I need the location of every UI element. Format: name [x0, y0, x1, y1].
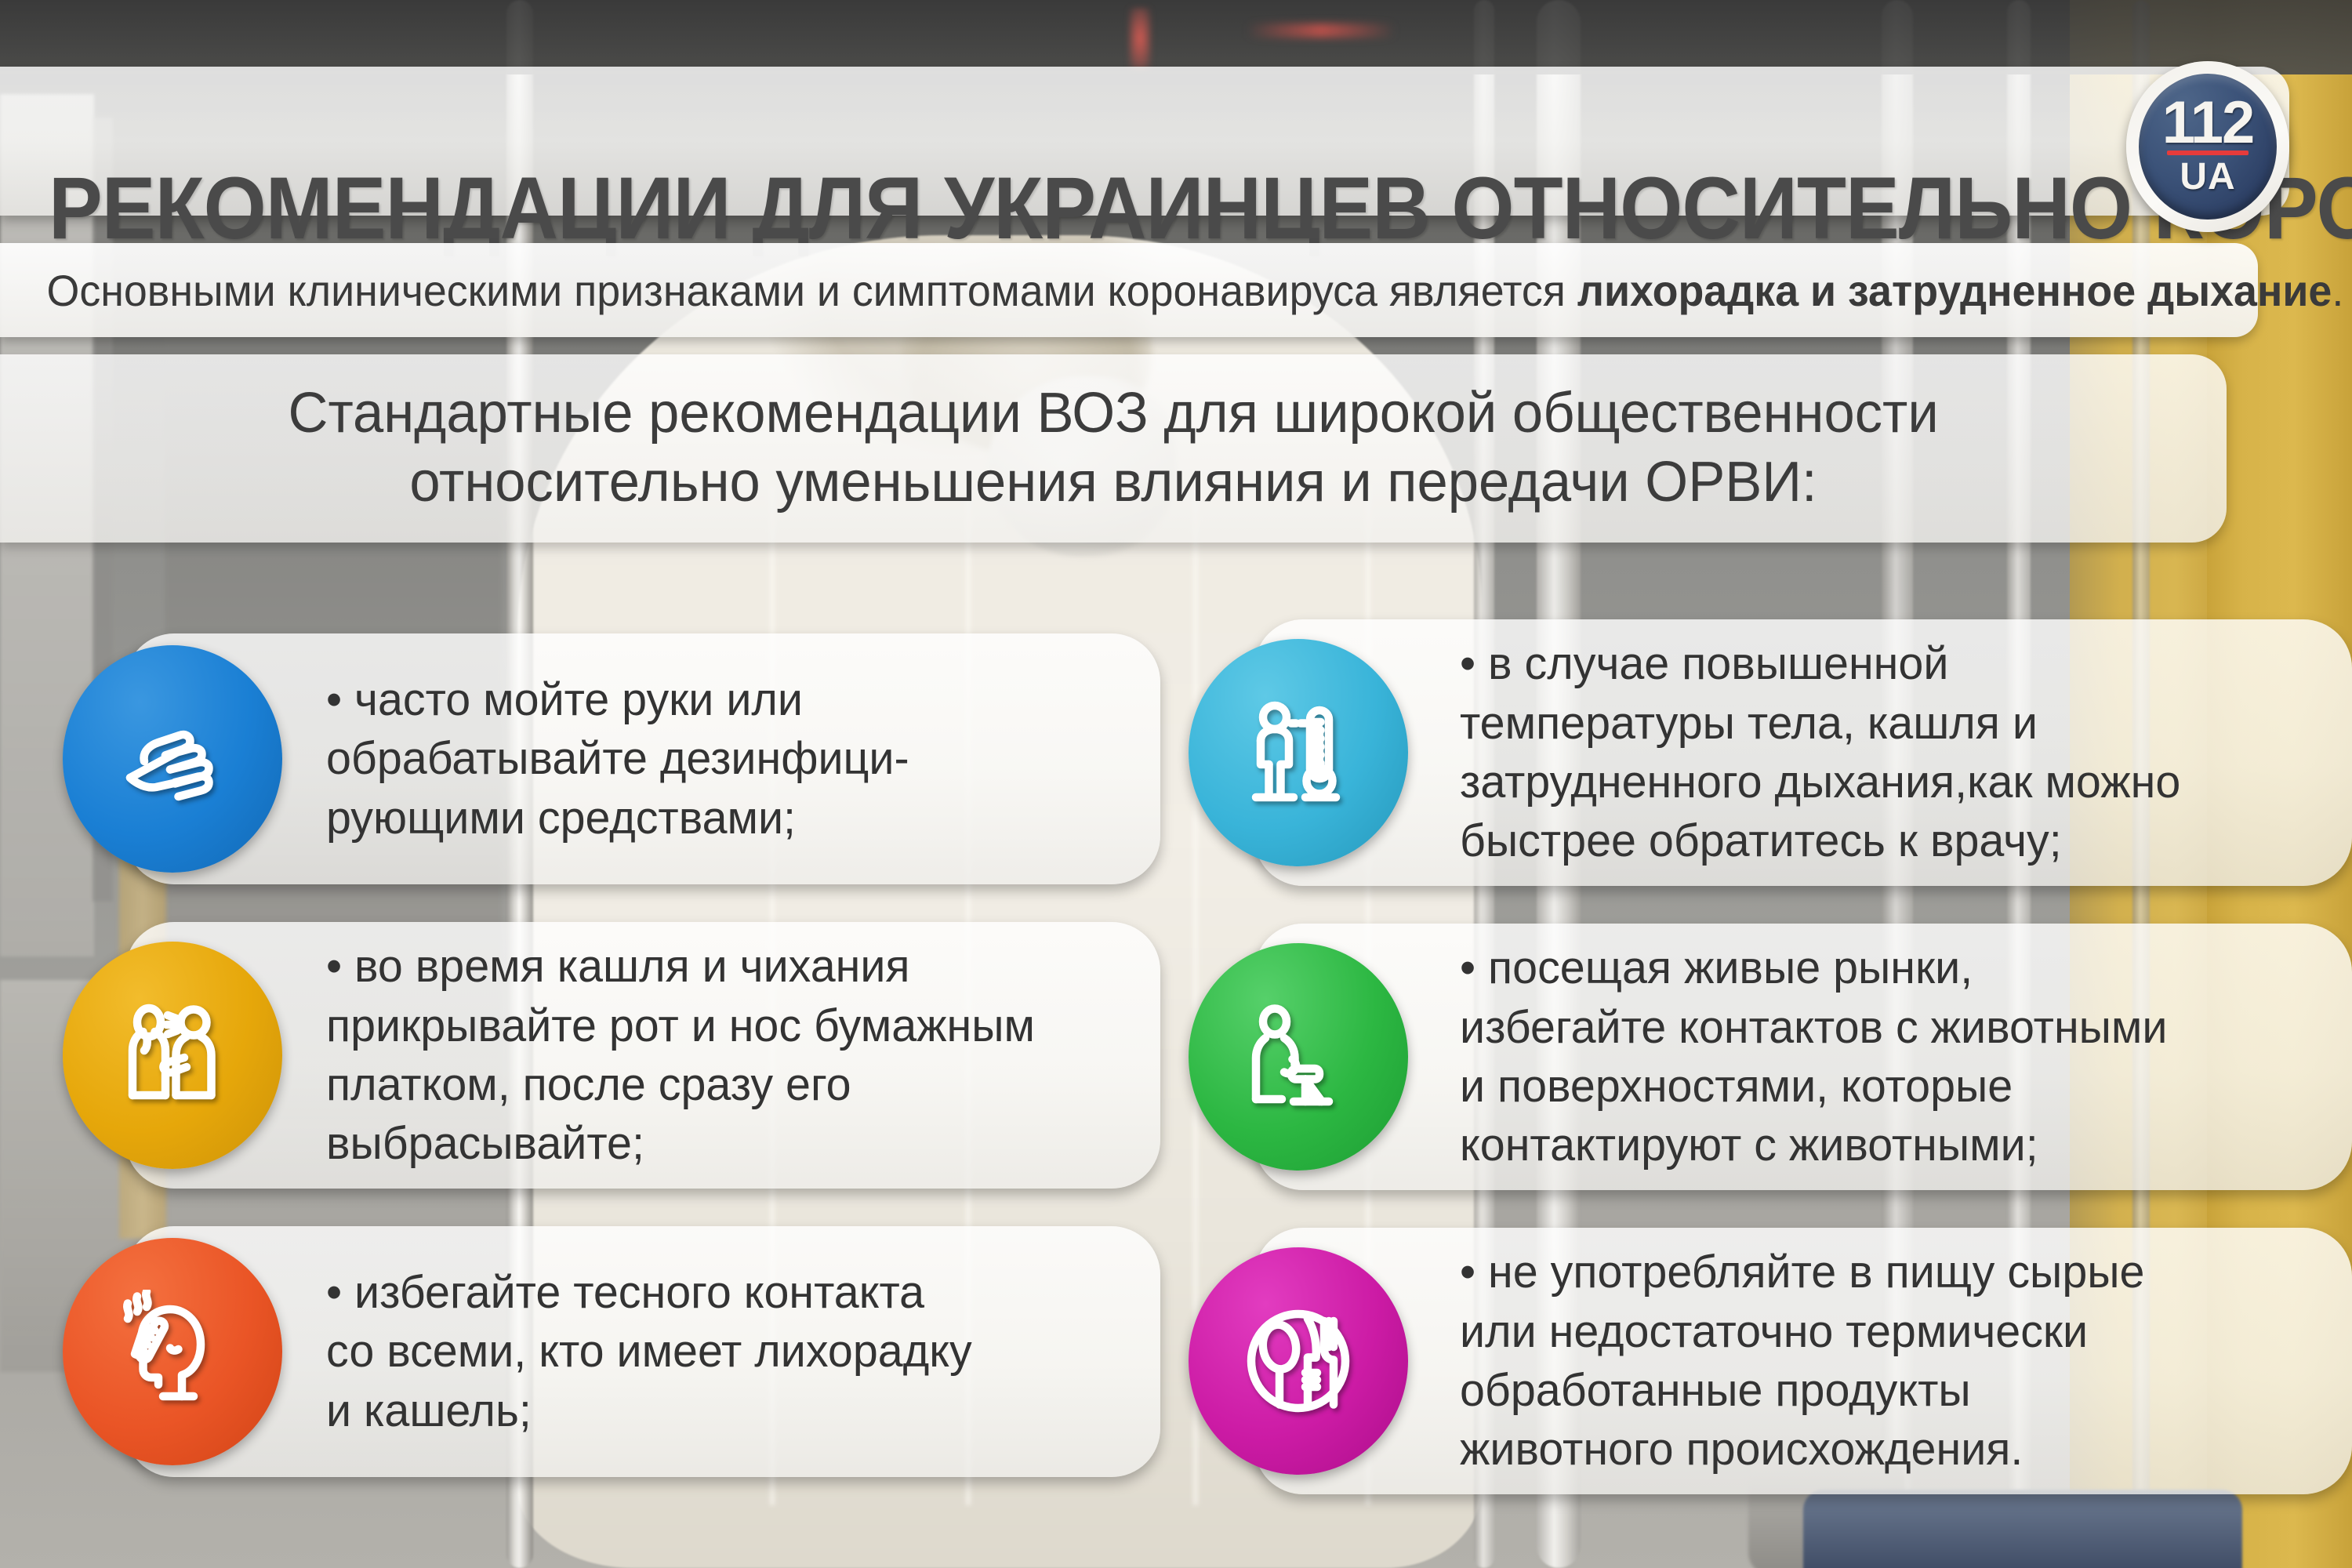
recommendation-card-see-doctor: • в случае повышенной температуры тела, …	[1254, 619, 2352, 886]
badge-wash-hands	[63, 645, 282, 873]
recommendations-column-left: • часто мойте руки или обрабатывайте дез…	[125, 633, 1160, 1515]
badge-raw-food	[1189, 1247, 1408, 1475]
recommendation-text: • не употребляйте в пищу сырые или недос…	[1460, 1243, 2144, 1479]
symptoms-tail: .	[2332, 266, 2343, 315]
red-display-strip	[1247, 24, 1396, 38]
red-indicator-light	[1129, 8, 1151, 69]
badge-live-markets	[1189, 943, 1408, 1171]
recommendation-card-avoid-contact: • избегайте тесного контакта со всеми, к…	[125, 1226, 1160, 1477]
recommendation-card-live-markets: • посещая живые рынки, избегайте контакт…	[1254, 924, 2352, 1190]
person-thermometer-icon	[1240, 691, 1357, 815]
who-intro-line-2: относительно уменьшения влияния и переда…	[409, 448, 1817, 517]
recommendation-text: • часто мойте руки или обрабатывайте дез…	[326, 670, 909, 848]
logo-red-rule	[2167, 151, 2249, 155]
logo-circle: 112 UA	[2139, 74, 2277, 220]
logo-country-code: UA	[2180, 158, 2235, 196]
recommendation-card-raw-food: • не употребляйте в пищу сырые или недос…	[1254, 1228, 2352, 1494]
badge-avoid-contact	[63, 1238, 282, 1465]
recommendation-text: • во время кашля и чихания прикрывайте р…	[326, 937, 1035, 1174]
channel-logo-112ua: 112 UA	[2126, 61, 2289, 232]
market-stall-person-icon	[1240, 995, 1357, 1119]
symptoms-banner: Основными клиническими признаками и симп…	[0, 243, 2258, 337]
symptoms-lead: Основными клиническими признаками и симп…	[47, 266, 1577, 315]
washing-hands-icon	[114, 697, 231, 821]
recommendation-card-wash-hands: • часто мойте руки или обрабатывайте дез…	[125, 633, 1160, 884]
recommendations-column-right: • в случае повышенной температуры тела, …	[1254, 619, 2289, 1532]
recommendation-text: • избегайте тесного контакта со всеми, к…	[326, 1263, 972, 1440]
symptoms-highlight: лихорадка и затрудненное дыхание	[1577, 266, 2332, 315]
badge-see-doctor	[1189, 639, 1408, 866]
badge-cover-cough	[63, 942, 282, 1169]
who-intro-line-1: Стандартные рекомендации ВОЗ для широкой…	[288, 379, 1938, 448]
sneezing-person-icon	[114, 993, 231, 1117]
logo-number: 112	[2162, 97, 2254, 148]
plate-cutlery-icon	[1240, 1299, 1357, 1423]
symptoms-text: Основными клиническими признаками и симп…	[0, 265, 2343, 316]
head-thermometer-icon	[114, 1290, 231, 1414]
recommendation-card-cover-cough: • во время кашля и чихания прикрывайте р…	[125, 922, 1160, 1189]
who-intro-banner: Стандартные рекомендации ВОЗ для широкой…	[0, 354, 2227, 543]
recommendation-text: • в случае повышенной температуры тела, …	[1460, 634, 2180, 871]
bus-ceiling	[0, 0, 2352, 74]
recommendation-text: • посещая живые рынки, избегайте контакт…	[1460, 938, 2167, 1175]
title-banner: РЕКОМЕНДАЦИИ ДЛЯ УКРАИНЦЕВ ОТНОСИТЕЛЬНО …	[0, 67, 2289, 216]
